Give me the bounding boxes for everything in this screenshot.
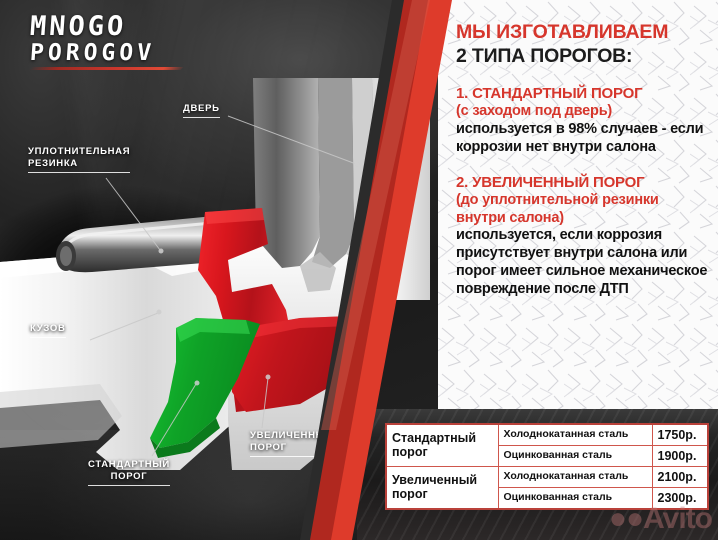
- table-row: Увеличенный порог Холоднокатанная сталь …: [386, 467, 708, 488]
- block-body-standard: используется в 98% случаев - если корроз…: [456, 121, 710, 157]
- row-material: Холоднокатанная сталь: [498, 424, 652, 446]
- row-material: Оцинкованная сталь: [498, 488, 652, 510]
- callout-rubber-seal: УПЛОТНИТЕЛЬНАЯ РЕЗИНКА: [28, 146, 130, 173]
- logo-line-one: MNOGO: [29, 13, 183, 40]
- info-block-standard: 1. СТАНДАРТНЫЙ ПОРОГ (с заходом под двер…: [456, 85, 710, 157]
- advertisement-image: MNOGO POROGOV: [0, 0, 718, 540]
- price-table: Стандартный порог Холоднокатанная сталь …: [385, 423, 709, 510]
- block-title-standard: 1. СТАНДАРТНЫЙ ПОРОГ: [456, 85, 710, 103]
- row-price: 1750р.: [652, 424, 708, 446]
- table-row: Стандартный порог Холоднокатанная сталь …: [386, 424, 708, 446]
- callout-body: КУЗОВ: [30, 323, 66, 338]
- row-price: 1900р.: [652, 446, 708, 467]
- block-body-increased: используется, если коррозия присутствует…: [456, 227, 710, 299]
- row-material: Холоднокатанная сталь: [498, 467, 652, 488]
- callout-door: ДВЕРЬ: [183, 103, 220, 118]
- info-content: МЫ ИЗГОТАВЛИВАЕМ 2 ТИПА ПОРОГОВ: 1. СТАН…: [438, 0, 718, 299]
- block-subtitle-standard: (с заходом под дверь): [456, 103, 710, 121]
- block-title-increased: 2. УВЕЛИЧЕННЫЙ ПОРОГ: [456, 174, 710, 192]
- block-subtitle-increased: (до уплотнительной резинки внутри салона…: [456, 192, 710, 227]
- row-material: Оцинкованная сталь: [498, 446, 652, 467]
- heading-line-one: МЫ ИЗГОТАВЛИВАЕМ: [456, 22, 710, 44]
- logo-line-two: POROGOV: [29, 42, 183, 65]
- callout-standard-sill: СТАНДАРТНЫЙ ПОРОГ: [88, 459, 170, 486]
- heading-line-two: 2 ТИПА ПОРОГОВ:: [456, 46, 710, 68]
- info-block-increased: 2. УВЕЛИЧЕННЫЙ ПОРОГ (до уплотнительной …: [456, 174, 710, 300]
- logo-underline-accent: [29, 67, 184, 70]
- brand-logo: MNOGO POROGOV: [30, 13, 182, 70]
- callout-increased-sill: УВЕЛИЧЕННЫЙ ПОРОГ: [250, 430, 333, 457]
- info-heading: МЫ ИЗГОТАВЛИВАЕМ 2 ТИПА ПОРОГОВ:: [456, 22, 710, 68]
- row-name-standard: Стандартный порог: [386, 424, 498, 467]
- row-price: 2300р.: [652, 488, 708, 510]
- row-price: 2100р.: [652, 467, 708, 488]
- row-name-increased: Увеличенный порог: [386, 467, 498, 510]
